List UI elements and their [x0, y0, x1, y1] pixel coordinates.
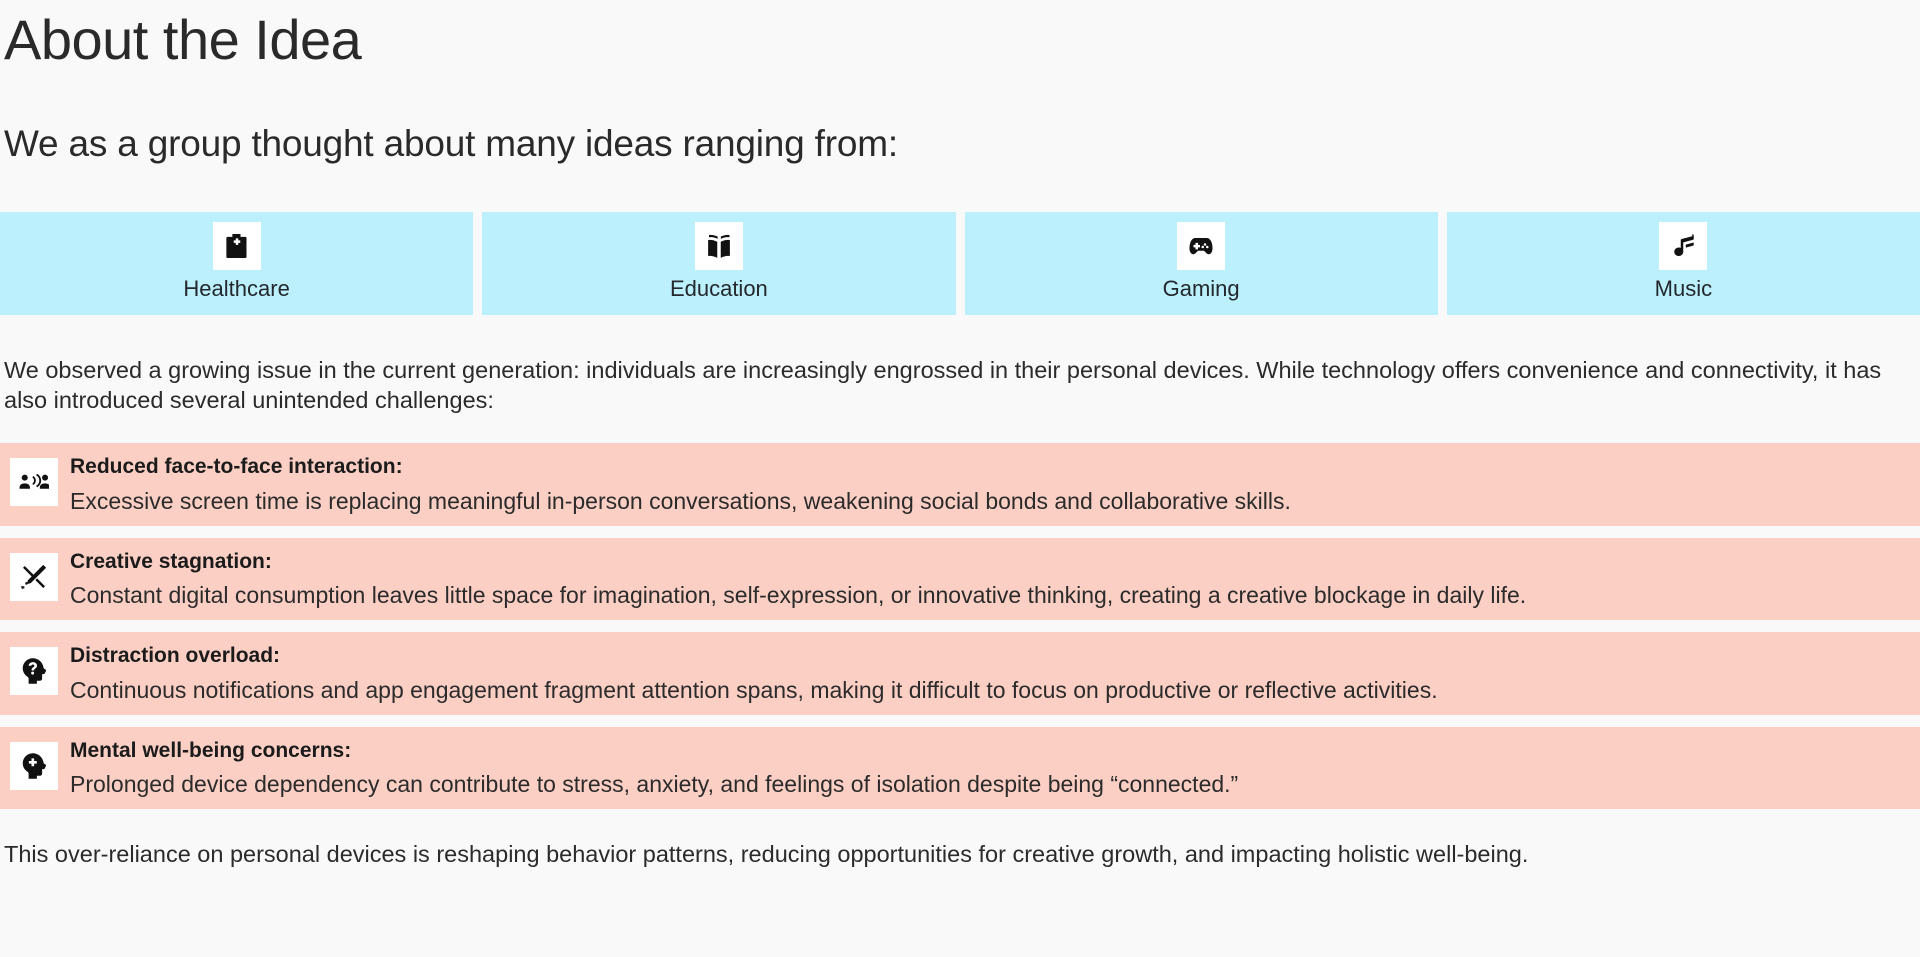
category-label: Music: [1655, 278, 1712, 300]
category-label: Gaming: [1163, 278, 1240, 300]
issue-list: Reduced face-to-face interaction: Excess…: [0, 443, 1920, 809]
category-card-education[interactable]: Education: [482, 212, 955, 315]
issue-title: Reduced face-to-face interaction:: [70, 453, 1291, 481]
head-question-icon: [10, 647, 58, 695]
page-subtitle: We as a group thought about many ideas r…: [0, 72, 1920, 166]
closing-paragraph: This over-reliance on personal devices i…: [0, 809, 1920, 870]
gamepad-icon: [1177, 222, 1225, 270]
category-card-healthcare[interactable]: Healthcare: [0, 212, 473, 315]
issue-row: Mental well-being concerns: Prolonged de…: [0, 727, 1920, 809]
category-label: Healthcare: [183, 278, 289, 300]
issue-row: Distraction overload: Continuous notific…: [0, 632, 1920, 714]
issue-text: Creative stagnation: Constant digital co…: [70, 547, 1526, 611]
page-title: About the Idea: [0, 0, 1920, 72]
issue-text: Mental well-being concerns: Prolonged de…: [70, 736, 1238, 800]
issue-description: Prolonged device dependency can contribu…: [70, 769, 1238, 800]
category-card-gaming[interactable]: Gaming: [965, 212, 1438, 315]
music-note-icon: [1659, 222, 1707, 270]
people-conversation-icon: [10, 458, 58, 506]
open-book-icon: [695, 222, 743, 270]
issue-description: Excessive screen time is replacing meani…: [70, 486, 1291, 517]
issue-row: Creative stagnation: Constant digital co…: [0, 538, 1920, 620]
issue-description: Continuous notifications and app engagem…: [70, 675, 1438, 706]
head-health-icon: [10, 742, 58, 790]
issue-title: Creative stagnation:: [70, 548, 1526, 576]
issue-text: Reduced face-to-face interaction: Excess…: [70, 452, 1291, 516]
issue-title: Mental well-being concerns:: [70, 737, 1238, 765]
intro-paragraph: We observed a growing issue in the curre…: [0, 315, 1900, 416]
category-card-music[interactable]: Music: [1447, 212, 1920, 315]
hospital-icon: [213, 222, 261, 270]
category-card-row: Healthcare Education Gaming: [0, 212, 1920, 315]
issue-row: Reduced face-to-face interaction: Excess…: [0, 443, 1920, 525]
pencil-ruler-icon: [10, 553, 58, 601]
issue-description: Constant digital consumption leaves litt…: [70, 580, 1526, 611]
issue-title: Distraction overload:: [70, 642, 1438, 670]
category-label: Education: [670, 278, 768, 300]
about-the-idea-page: About the Idea We as a group thought abo…: [0, 0, 1920, 957]
issue-text: Distraction overload: Continuous notific…: [70, 641, 1438, 705]
